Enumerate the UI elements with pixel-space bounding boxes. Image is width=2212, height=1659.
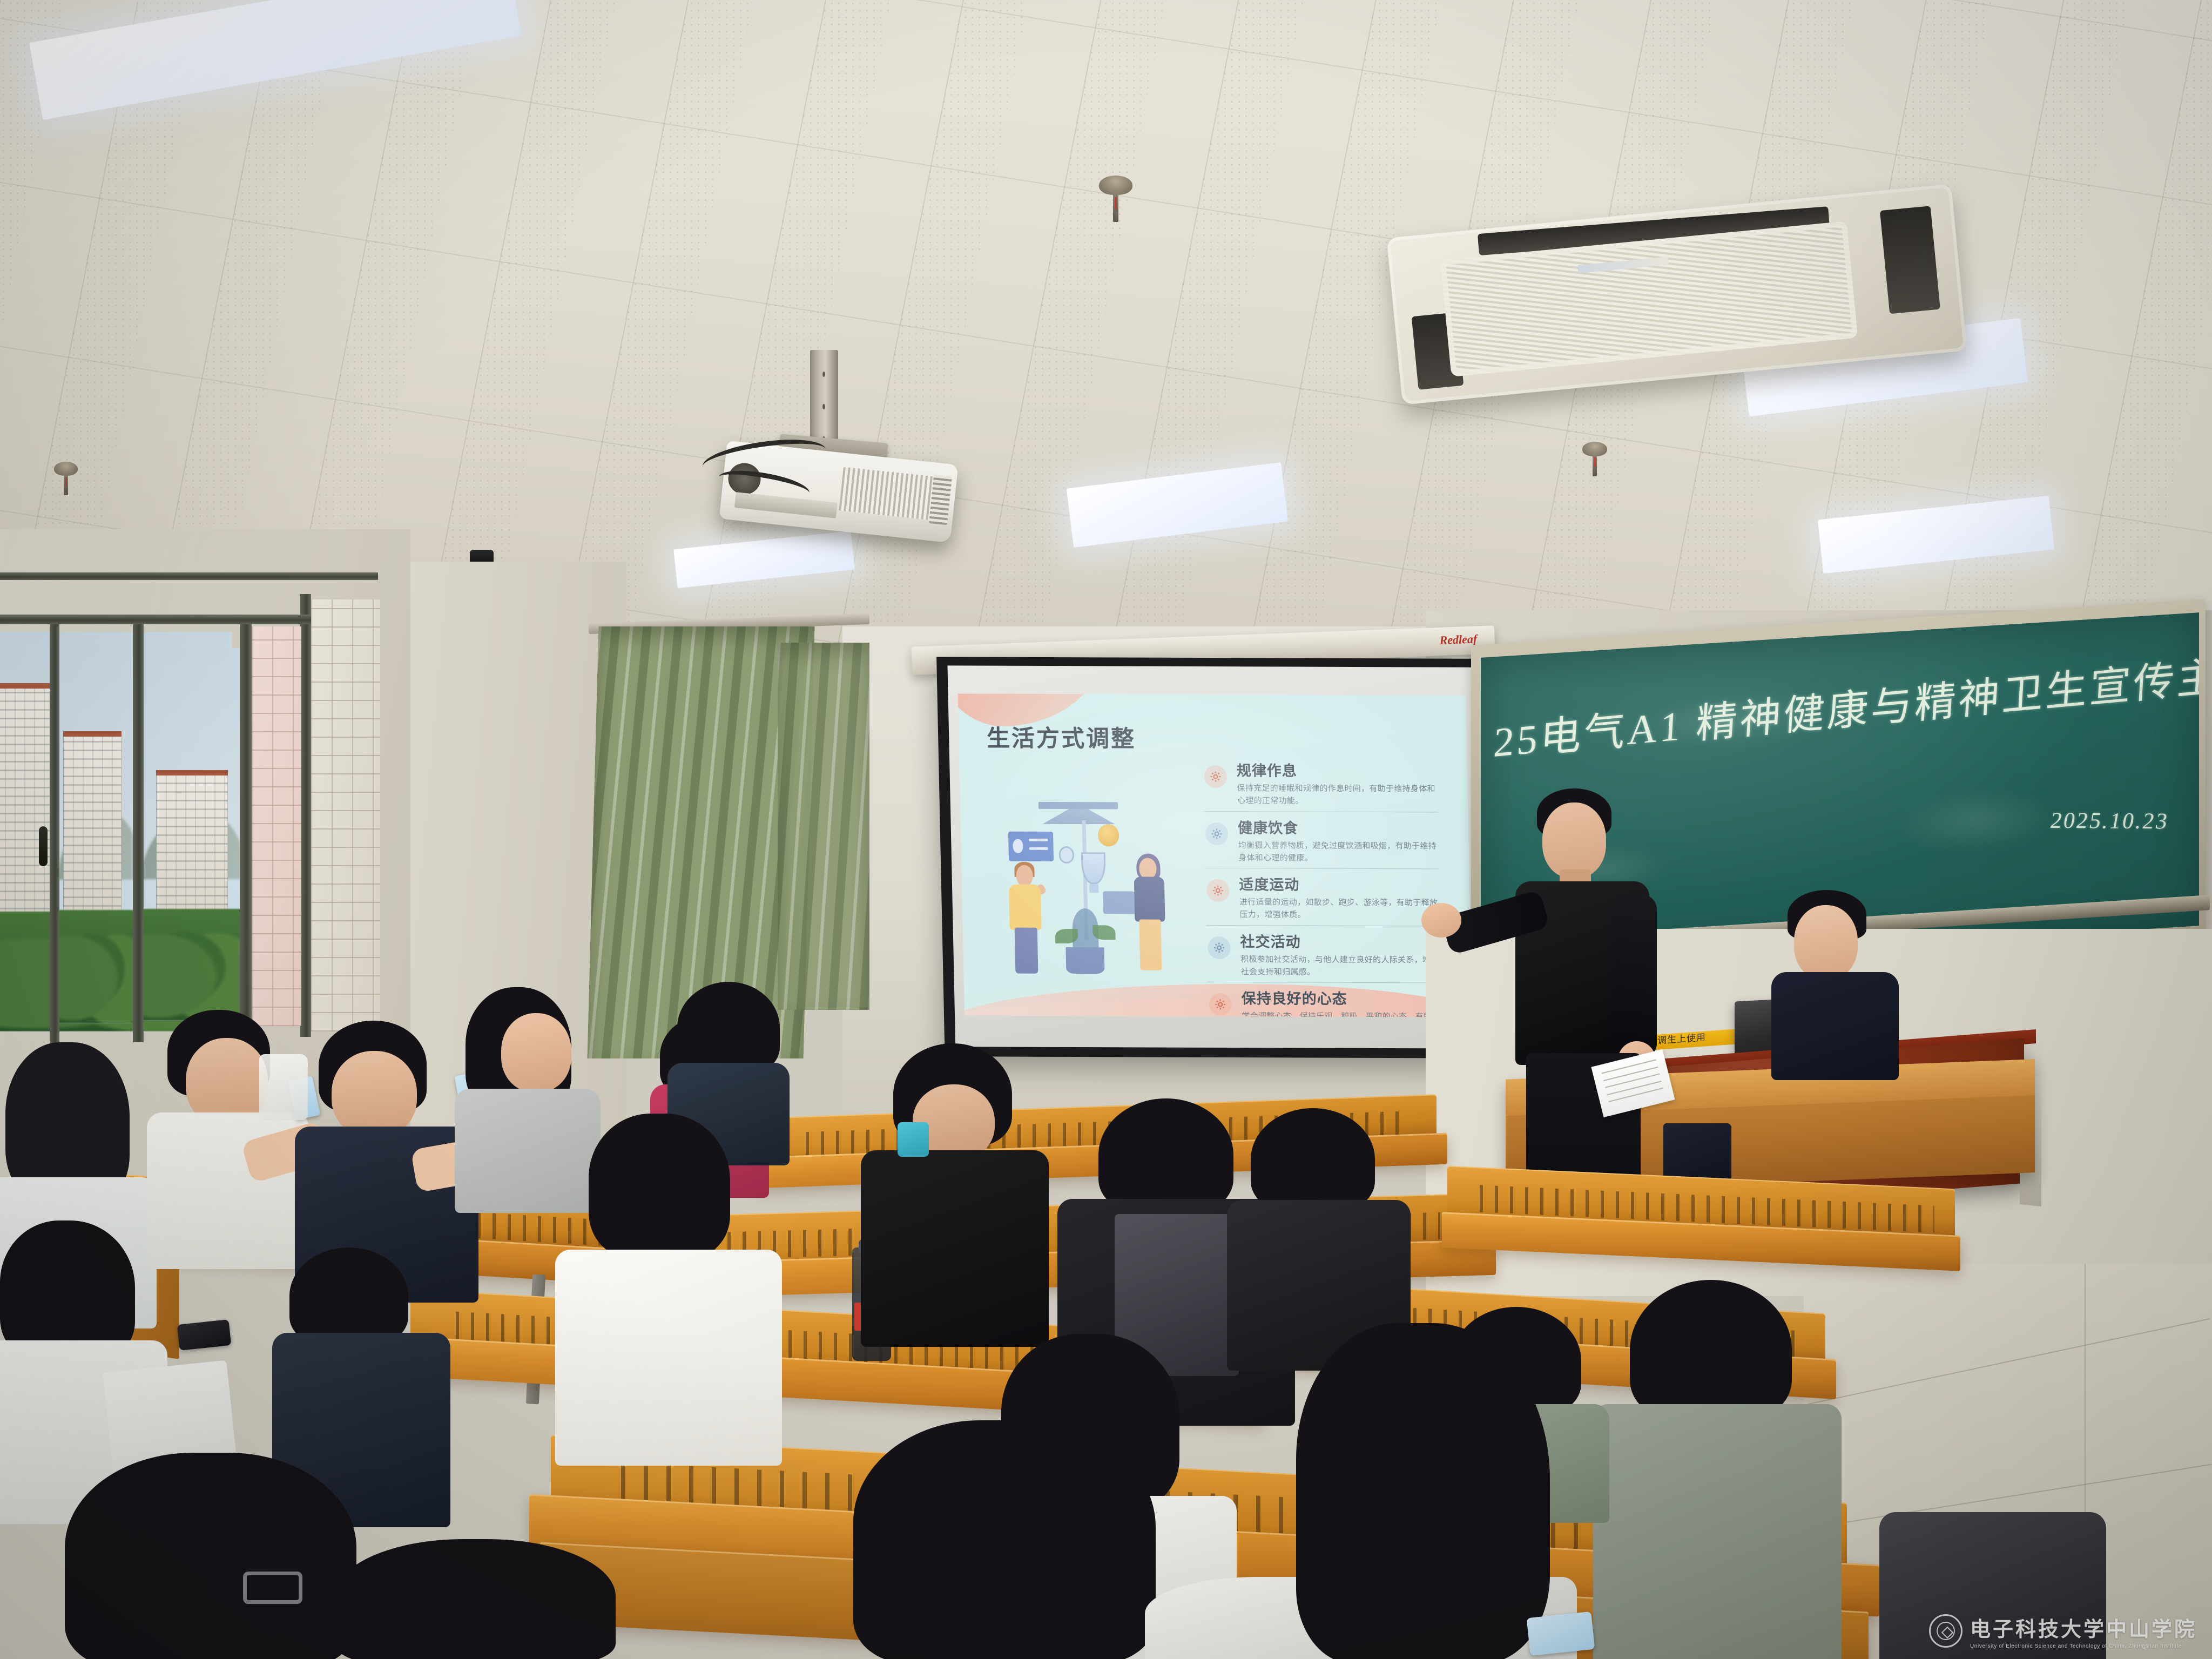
student-audience — [863, 1043, 1047, 1346]
window-mullion — [0, 572, 378, 580]
window-mullion — [300, 594, 311, 1037]
bullet-heading: 规律作息 — [1236, 759, 1437, 780]
bullet-heading: 适度运动 — [1239, 873, 1439, 894]
laptop-operator-student — [1776, 890, 1894, 1068]
hand-left — [1421, 903, 1461, 938]
hair — [1098, 1098, 1233, 1212]
window-handle[interactable] — [39, 826, 48, 866]
list-item: 规律作息 保持充足的睡眠和规律的作息时间，有助于维持身体和心理的正常功能。 — [1203, 759, 1437, 808]
bullet-body: 积极参加社交活动，与他人建立良好的人际关系，增强社会支持和归属感。 — [1240, 953, 1441, 979]
university-seal-icon — [1929, 1614, 1963, 1648]
hair — [0, 1220, 135, 1361]
eyeglasses-icon — [243, 1572, 302, 1604]
student-audience — [335, 1539, 616, 1659]
smartphone[interactable] — [1527, 1611, 1595, 1656]
classroom-photo-scene: Jusbe Redleaf — [0, 0, 2212, 1659]
bullet-body: 学会调整心态，保持乐观、积极、平和的心态，有助于应对生活中的各种挑战。 — [1242, 1010, 1442, 1017]
hair — [1251, 1108, 1375, 1211]
gear-icon — [1208, 936, 1231, 959]
apartment-building — [63, 736, 122, 933]
presenting-student — [1491, 788, 1674, 1226]
bullet-heading: 健康饮食 — [1238, 816, 1438, 838]
hair — [589, 1114, 730, 1259]
watermark: 电子科技大学中山学院 University of Electronic Scie… — [1929, 1613, 2197, 1649]
water-bottle — [898, 1122, 929, 1157]
gear-icon — [1204, 765, 1228, 788]
slide-bullet-list: 规律作息 保持充足的睡眠和规律的作息时间，有助于维持身体和心理的正常功能。 健康… — [1203, 759, 1442, 1017]
list-item: 健康饮食 均衡摄入营养物质，避免过度饮酒和吸烟，有助于维持身体和心理的健康。 — [1204, 816, 1439, 865]
hair — [1630, 1280, 1792, 1420]
watermark-chinese: 电子科技大学中山学院 — [1970, 1613, 2197, 1642]
head — [501, 1013, 571, 1092]
exterior-tile-wall — [252, 626, 301, 1026]
gear-icon — [1205, 822, 1229, 845]
torso — [861, 1150, 1049, 1347]
hair — [289, 1247, 408, 1345]
torso — [555, 1250, 782, 1466]
hair — [853, 1420, 1156, 1659]
student-audience — [154, 1010, 316, 1269]
projector-vent — [839, 467, 936, 521]
window-glass[interactable] — [141, 648, 244, 1021]
window-mullion — [133, 621, 144, 1042]
list-item: 适度运动 进行适量的运动，如散步、跑步、游泳等，有助于释放压力，增强体质。 — [1205, 873, 1440, 922]
smartphone[interactable] — [177, 1319, 231, 1351]
illustration-person — [1130, 858, 1170, 970]
fire-sprinkler-icon — [1582, 442, 1607, 476]
apartment-building — [156, 775, 228, 932]
head — [1794, 905, 1858, 980]
watermark-english: University of Electronic Science and Tec… — [1970, 1643, 2197, 1649]
plastic-bag — [259, 1054, 308, 1120]
fire-sprinkler-icon — [1099, 176, 1132, 222]
arm-right — [1614, 894, 1657, 1058]
head — [1542, 802, 1606, 878]
student-audience — [1296, 1323, 1599, 1659]
torso — [1593, 1404, 1842, 1659]
bullet-body: 保持充足的睡眠和规律的作息时间，有助于维持身体和心理的正常功能。 — [1237, 782, 1437, 808]
list-item: 保持良好的心态 学会调整心态，保持乐观、积极、平和的心态，有助于应对生活中的各种… — [1208, 987, 1442, 1017]
hair — [1296, 1323, 1550, 1659]
bullet-heading: 社交活动 — [1240, 930, 1440, 952]
window-curtain[interactable] — [778, 643, 869, 1010]
ac-louvre — [1879, 206, 1940, 314]
hair — [65, 1453, 356, 1659]
head — [332, 1051, 417, 1137]
window-mullion — [50, 621, 59, 1048]
window-glass[interactable] — [58, 645, 139, 1023]
exterior-tile-wall — [311, 599, 380, 1031]
student-audience — [577, 1114, 771, 1459]
blackboard-date-text: 2025.10.23 — [2048, 808, 2171, 835]
gear-icon — [1209, 993, 1232, 1016]
student-audience — [1599, 1280, 1842, 1659]
slide-illustration — [1001, 790, 1177, 977]
projection-screen: 生活方式调整 — [947, 665, 1482, 1048]
illustration-person — [1006, 865, 1046, 974]
hair — [677, 982, 780, 1074]
student-audience — [65, 1453, 356, 1659]
torso — [1771, 972, 1899, 1080]
slide-title: 生活方式调整 — [986, 719, 1136, 753]
hair — [335, 1539, 616, 1659]
student-audience — [853, 1420, 1156, 1659]
gear-icon — [1206, 879, 1230, 902]
presentation-slide: 生活方式调整 — [958, 693, 1473, 1017]
window-mullion — [240, 616, 252, 1031]
bullet-heading: 保持良好的心态 — [1241, 987, 1441, 1008]
bullet-body: 进行适量的运动，如散步、跑步、游泳等，有助于释放压力，增强体质。 — [1239, 896, 1440, 922]
list-item: 社交活动 积极参加社交活动，与他人建立良好的人际关系，增强社会支持和归属感。 — [1206, 930, 1441, 979]
bullet-body: 均衡摄入营养物质，避免过度饮酒和吸烟，有助于维持身体和心理的健康。 — [1238, 839, 1439, 865]
fire-sprinkler-icon — [54, 462, 78, 495]
